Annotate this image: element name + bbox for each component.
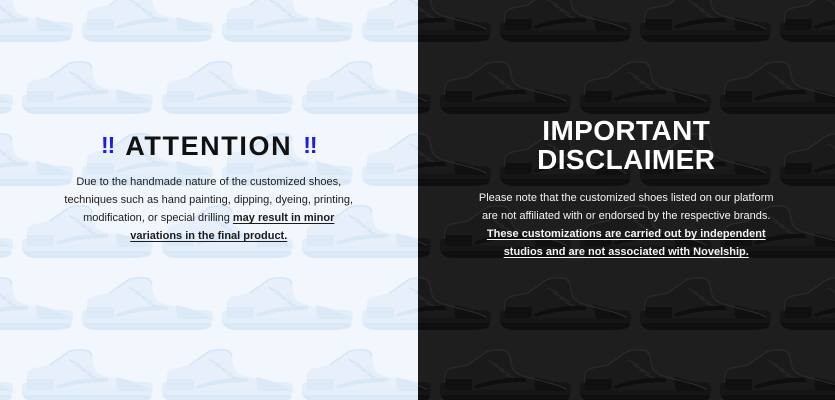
disclaimer-headline-line2: DISCLAIMER [446,145,808,174]
attention-headline: !! ATTENTION !! [28,132,390,160]
disclaimer-body-emphasis: These customizations are carried out by … [487,228,766,258]
disclaimer-headline: IMPORTANT DISCLAIMER [446,116,808,174]
disclaimer-headline-line1: IMPORTANT [446,116,808,145]
attention-content: !! ATTENTION !! Due to the handmade natu… [0,132,418,245]
attention-body: Due to the handmade nature of the custom… [59,174,359,245]
disclaimer-banner: !! ATTENTION !! Due to the handmade natu… [0,0,835,400]
attention-panel: !! ATTENTION !! Due to the handmade natu… [0,0,418,400]
disclaimer-body-plain: Please note that the customized shoes li… [479,192,774,222]
disclaimer-panel: IMPORTANT DISCLAIMER Please note that th… [418,0,835,400]
attention-headline-text: ATTENTION [125,132,292,160]
exclamation-right-icon: !! [303,134,316,157]
disclaimer-content: IMPORTANT DISCLAIMER Please note that th… [418,116,835,261]
exclamation-left-icon: !! [101,134,114,157]
disclaimer-body: Please note that the customized shoes li… [470,190,782,261]
